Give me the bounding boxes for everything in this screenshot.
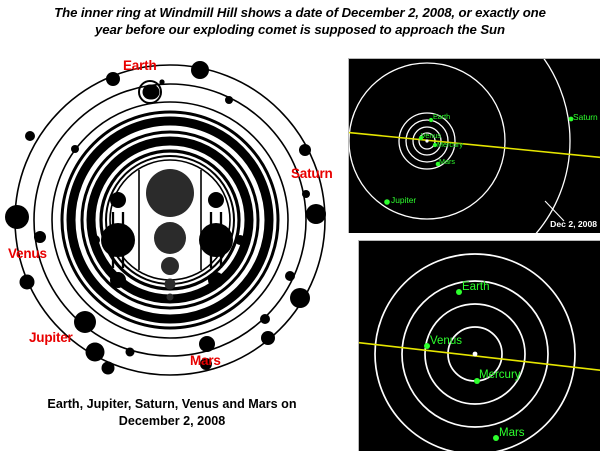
inner-orrery-graphic — [359, 241, 600, 451]
sun-marker — [473, 352, 478, 357]
date-stamp: Dec 2, 2008 — [550, 219, 597, 229]
crop-circle-label-mars: Mars — [190, 353, 221, 368]
inner-label-earth: Earth — [462, 281, 490, 293]
inner-planet-markers — [424, 289, 499, 441]
inner-solar-system-panel: Earth Venus Mercury Mars — [358, 240, 600, 451]
inner-label-mercury: Mercury — [479, 369, 521, 381]
outer-label-venus: Venus — [421, 131, 441, 140]
outer-label-saturn: Saturn — [573, 112, 598, 122]
crop-circle-label-earth: Earth — [123, 58, 157, 73]
caption-line-2: December 2, 2008 — [4, 413, 340, 430]
title-line-2: year before our exploding comet is suppo… — [8, 21, 592, 38]
ecliptic-line — [349, 132, 600, 158]
crop-circle-label-venus: Venus — [8, 246, 47, 261]
outer-label-earth: Earth — [433, 112, 450, 121]
inner-label-mars: Mars — [499, 427, 525, 439]
slide-root: The inner ring at Windmill Hill shows a … — [0, 0, 600, 450]
windmill-hill-crop-circle-diagram: Earth Saturn Venus Jupiter Mars — [0, 52, 340, 388]
caption-line-1: Earth, Jupiter, Saturn, Venus and Mars o… — [4, 396, 340, 413]
ecliptic-line — [359, 342, 600, 371]
outer-label-mercury: Mercury — [437, 140, 463, 149]
outer-planet-markers — [384, 117, 573, 205]
figure-caption: Earth, Jupiter, Saturn, Venus and Mars o… — [4, 396, 340, 430]
outer-label-jupiter: Jupiter — [391, 195, 416, 205]
crop-circle-label-saturn: Saturn — [291, 166, 333, 181]
outer-orrery-graphic — [349, 59, 600, 233]
inner-label-venus: Venus — [430, 335, 462, 347]
outer-solar-system-panel: Saturn Jupiter Earth Venus Mercury Mars … — [348, 58, 600, 233]
outer-label-mars: Mars — [439, 157, 455, 166]
title-line-1: The inner ring at Windmill Hill shows a … — [8, 4, 592, 21]
crop-circle-label-jupiter: Jupiter — [29, 330, 73, 345]
page-title: The inner ring at Windmill Hill shows a … — [8, 4, 592, 38]
